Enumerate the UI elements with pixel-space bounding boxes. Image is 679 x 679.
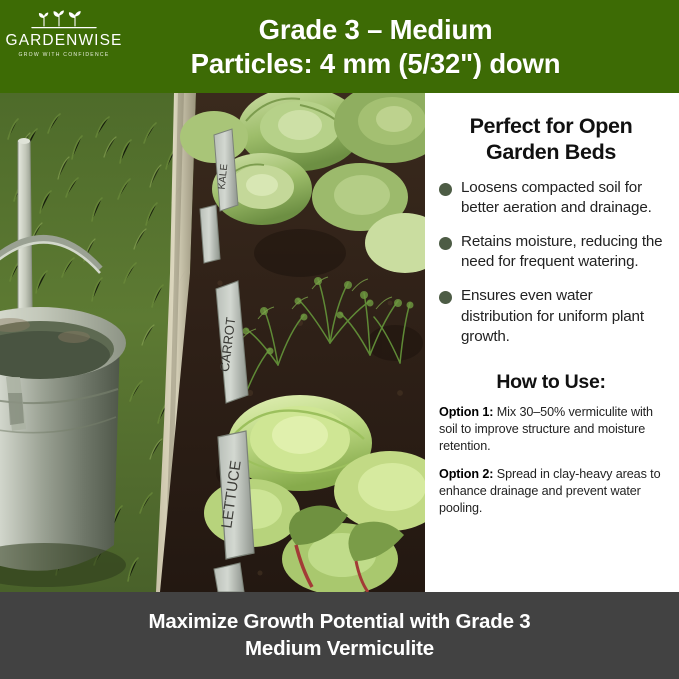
usage-option-2: Option 2: Spread in clay-heavy areas to …	[439, 466, 663, 517]
brand-logo: GARDENWISE GROW WITH CONFIDENCE	[8, 6, 120, 58]
header-title-line2: Particles: 4 mm (5/32") down	[191, 47, 561, 81]
content-row: KALE CARROT LETTUCE	[0, 93, 679, 592]
footer-banner: Maximize Growth Potential with Grade 3 M…	[0, 592, 679, 679]
bullet-dot-icon	[439, 183, 452, 196]
bullet-dot-icon	[439, 237, 452, 250]
benefit-list: Loosens compacted soil for better aerati…	[439, 178, 663, 362]
panel-heading-line1: Perfect for Open	[470, 114, 633, 138]
list-item: Loosens compacted soil for better aerati…	[439, 178, 663, 218]
footer-line1: Maximize Growth Potential with Grade 3	[149, 609, 531, 635]
usage-option-2-label: Option 2:	[439, 467, 493, 481]
how-to-use-heading: How to Use:	[439, 371, 663, 394]
header-title: Grade 3 – Medium Particles: 4 mm (5/32")…	[105, 13, 575, 80]
benefit-text: Loosens compacted soil for better aerati…	[461, 178, 663, 218]
benefit-text: Retains moisture, reducing the need for …	[461, 232, 663, 272]
benefits-panel: Perfect for Open Garden Beds Loosens com…	[425, 93, 679, 592]
list-item: Ensures even water distribution for unif…	[439, 286, 663, 347]
bullet-dot-icon	[439, 291, 452, 304]
header-title-line1: Grade 3 – Medium	[191, 13, 561, 47]
footer-banner-text: Maximize Growth Potential with Grade 3 M…	[149, 609, 531, 661]
usage-option-1-label: Option 1:	[439, 405, 493, 419]
garden-photo-illustration: KALE CARROT LETTUCE	[0, 93, 425, 592]
benefit-text: Ensures even water distribution for unif…	[461, 286, 663, 347]
three-sprouts-icon	[28, 6, 100, 32]
panel-heading-line2: Garden Beds	[486, 140, 616, 164]
panel-heading: Perfect for Open Garden Beds	[439, 114, 663, 166]
list-item: Retains moisture, reducing the need for …	[439, 232, 663, 272]
logo-wordmark: GARDENWISE	[6, 33, 123, 49]
usage-option-1: Option 1: Mix 30–50% vermiculite with so…	[439, 404, 663, 455]
footer-line2: Medium Vermiculite	[149, 636, 531, 662]
header-banner: GARDENWISE GROW WITH CONFIDENCE Grade 3 …	[0, 0, 679, 93]
product-infographic: GARDENWISE GROW WITH CONFIDENCE Grade 3 …	[0, 0, 679, 679]
plant-tag-middle	[200, 205, 220, 263]
garden-bed-photo: KALE CARROT LETTUCE	[0, 93, 425, 592]
logo-tagline: GROW WITH CONFIDENCE	[19, 52, 110, 58]
